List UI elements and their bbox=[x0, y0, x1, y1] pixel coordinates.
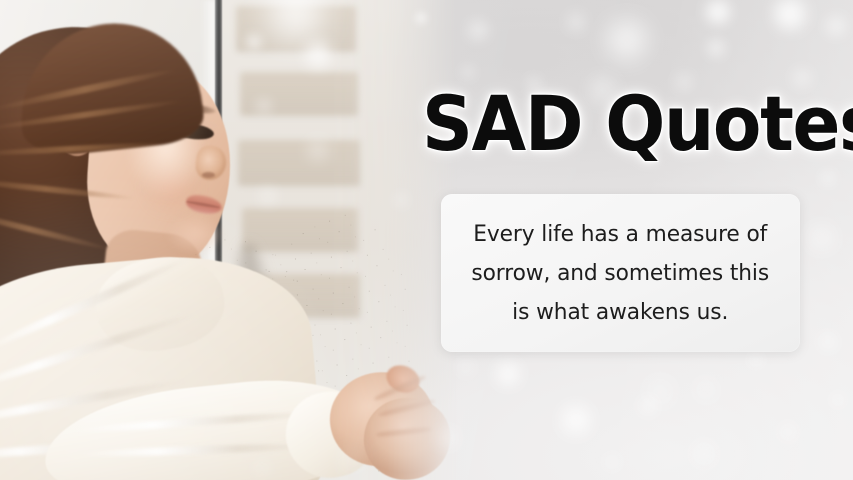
window-blind-slat bbox=[240, 72, 358, 116]
quote-line-2: sorrow, and sometimes this bbox=[472, 254, 770, 293]
quote-text: Every life has a measure of sorrow, and … bbox=[456, 215, 785, 332]
slide-canvas: SAD Quotes Every life has a measure of s… bbox=[0, 0, 853, 480]
quote-card: Every life has a measure of sorrow, and … bbox=[441, 194, 800, 352]
window-blind-slat bbox=[238, 140, 360, 186]
quote-line-3: is what awakens us. bbox=[472, 293, 770, 332]
nostril bbox=[202, 172, 215, 178]
girl-photo bbox=[0, 0, 460, 480]
page-title: SAD Quotes bbox=[422, 86, 853, 162]
window-blind-slat bbox=[236, 6, 356, 52]
quote-line-1: Every life has a measure of bbox=[472, 215, 770, 254]
